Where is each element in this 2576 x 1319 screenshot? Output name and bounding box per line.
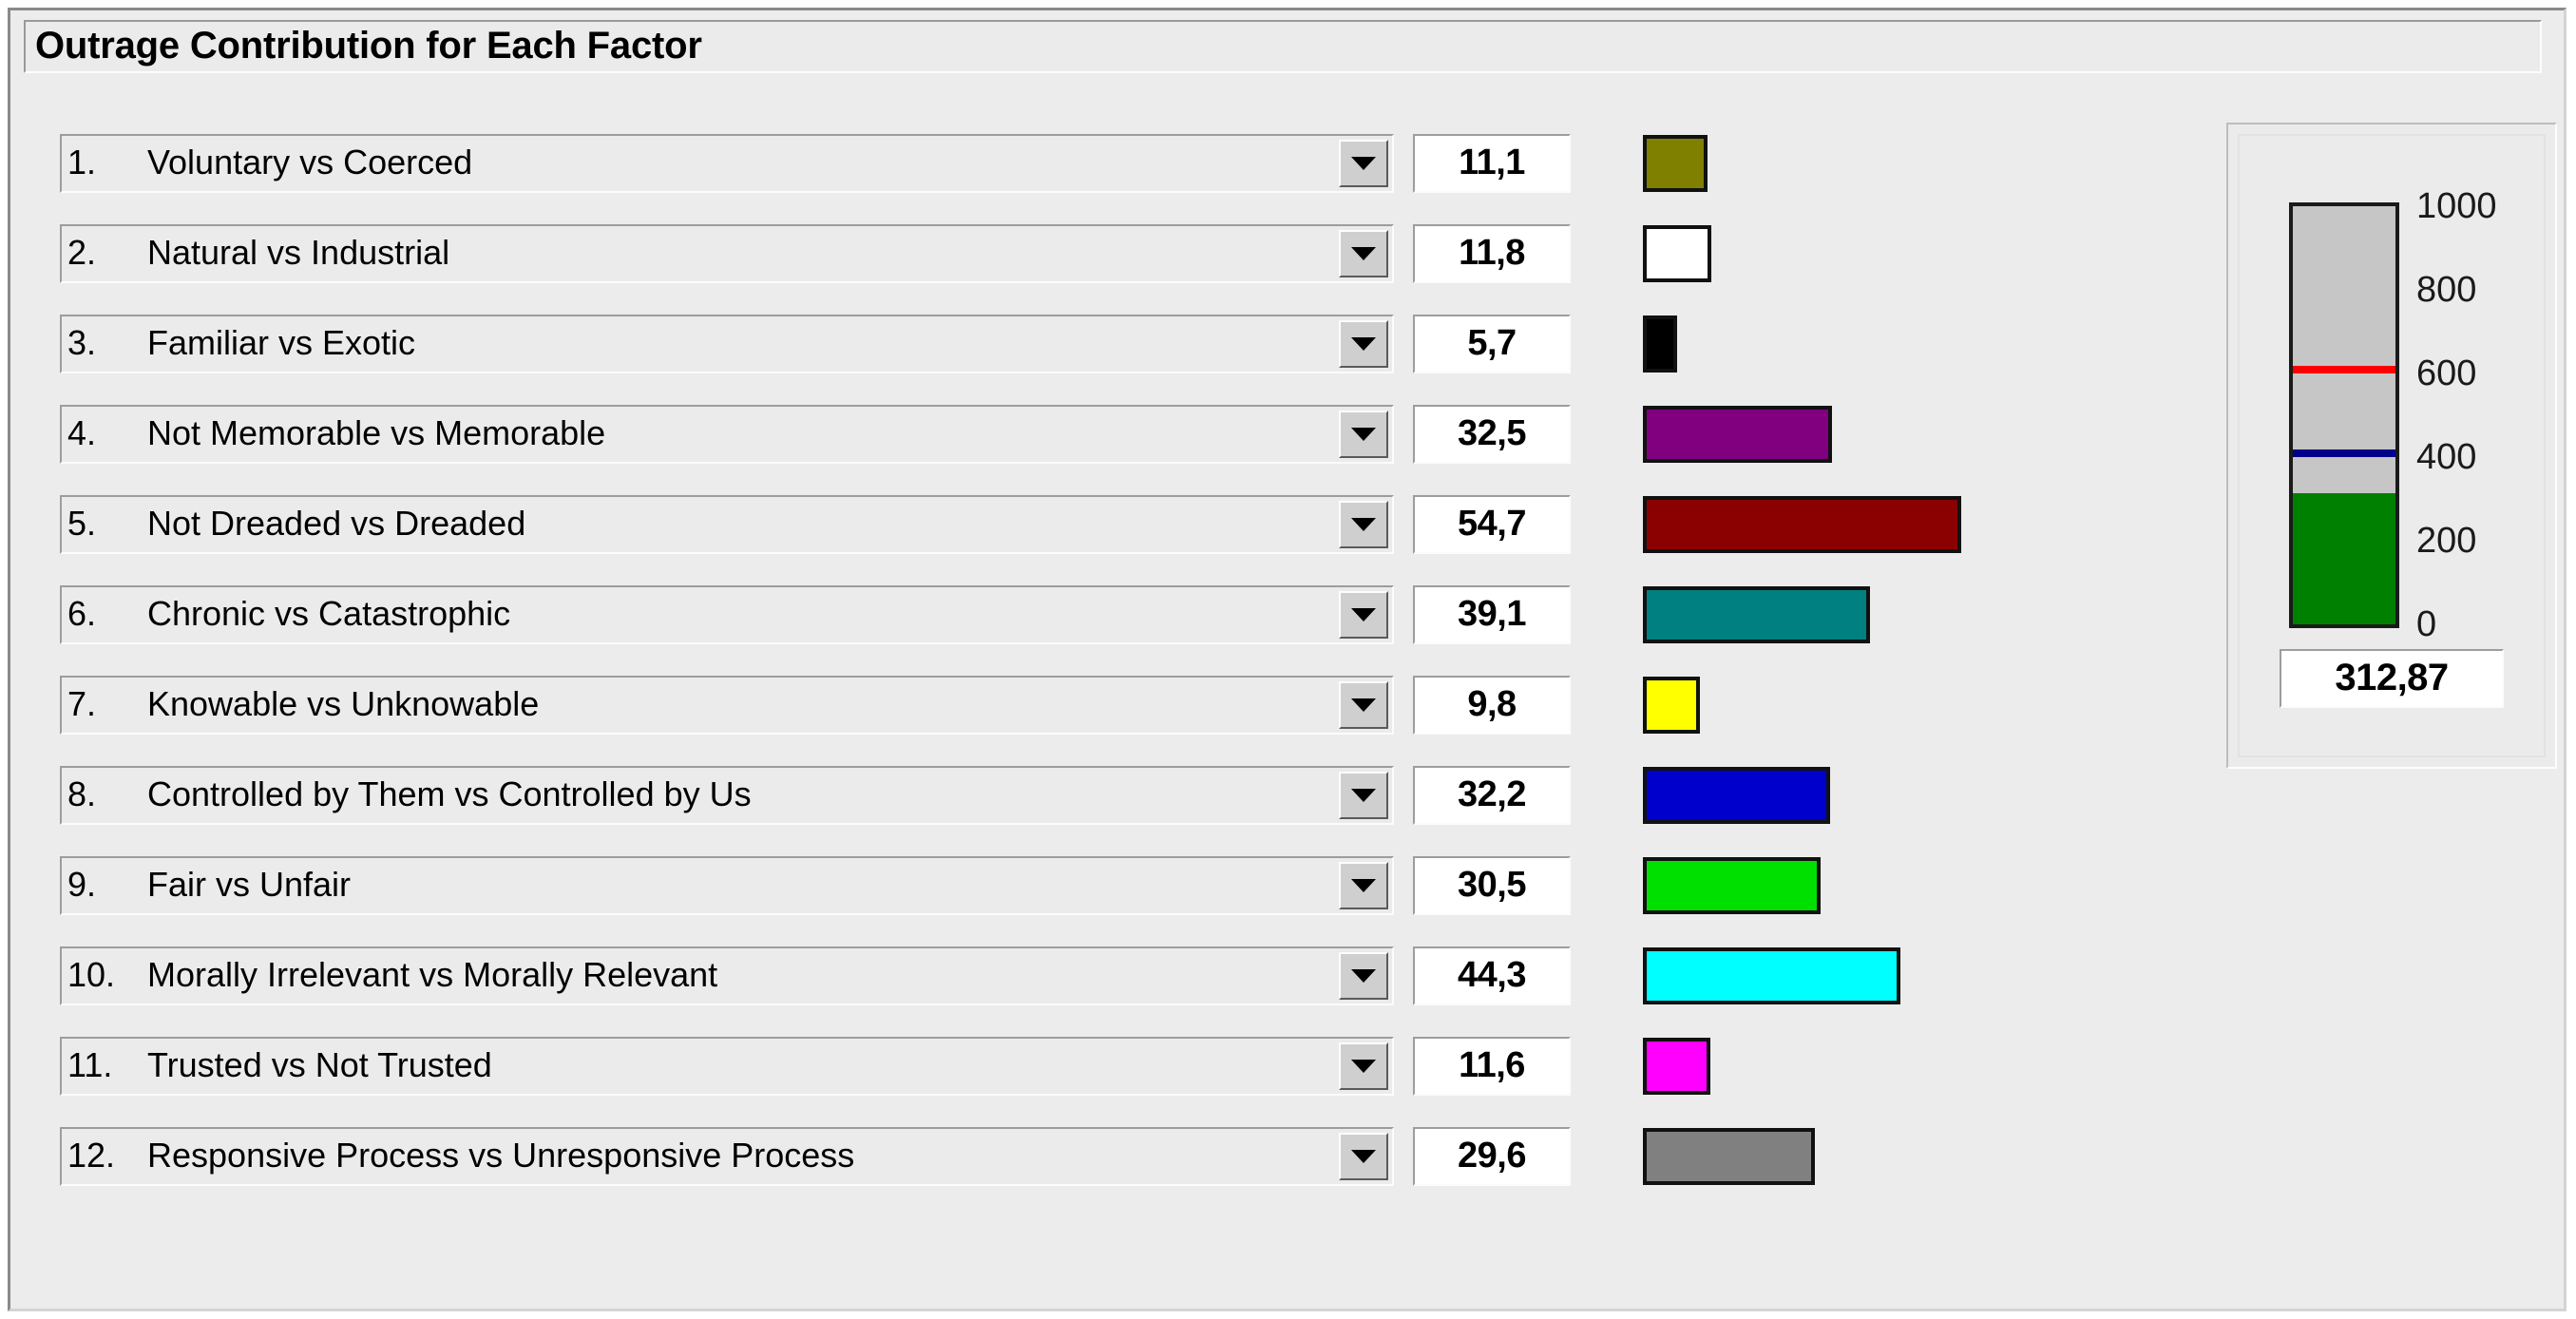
page-title: Outrage Contribution for Each Factor xyxy=(26,27,702,65)
chevron-down-glyph xyxy=(1351,1060,1376,1073)
factor-combobox-6[interactable]: 6.Chronic vs Catastrophic xyxy=(60,585,1394,644)
factor-label: Trusted vs Not Trusted xyxy=(142,1048,492,1082)
gauge-tick-label: 600 xyxy=(2416,355,2476,392)
factor-bar xyxy=(1643,677,1700,734)
gauge-fill xyxy=(2293,493,2395,624)
chevron-down-glyph xyxy=(1351,518,1376,531)
chevron-down-icon[interactable] xyxy=(1339,230,1388,277)
blue-threshold-marker xyxy=(2293,449,2395,457)
factor-number: 1. xyxy=(62,145,142,180)
factor-combobox-5[interactable]: 5.Not Dreaded vs Dreaded xyxy=(60,495,1394,554)
factor-bar xyxy=(1643,947,1900,1004)
factor-value-text: 32,2 xyxy=(1458,776,1526,812)
factor-combobox-3[interactable]: 3.Familiar vs Exotic xyxy=(60,315,1394,373)
factor-row: 3.Familiar vs Exotic5,7 xyxy=(60,307,1970,397)
factor-row: 1.Voluntary vs Coerced11,1 xyxy=(60,126,1970,217)
total-value-text: 312,87 xyxy=(2335,659,2448,697)
chevron-down-glyph xyxy=(1351,428,1376,441)
total-value-field[interactable]: 312,87 xyxy=(2280,649,2504,708)
factor-bar-track xyxy=(1643,857,2042,914)
factor-list: 1.Voluntary vs Coerced11,12.Natural vs I… xyxy=(60,126,1970,1210)
factor-number: 3. xyxy=(62,326,142,360)
gauge-tick-label: 800 xyxy=(2416,272,2476,308)
factor-label: Fair vs Unfair xyxy=(142,868,351,902)
factor-value-field[interactable]: 32,5 xyxy=(1413,405,1571,464)
factor-combobox-9[interactable]: 9.Fair vs Unfair xyxy=(60,856,1394,915)
factor-value-field[interactable]: 11,8 xyxy=(1413,224,1571,283)
factor-label: Morally Irrelevant vs Morally Relevant xyxy=(142,958,717,992)
factor-row: 5.Not Dreaded vs Dreaded54,7 xyxy=(60,487,1970,578)
factor-row: 11.Trusted vs Not Trusted11,6 xyxy=(60,1029,1970,1119)
factor-value-field[interactable]: 39,1 xyxy=(1413,585,1571,644)
total-outrage-gauge-panel: 10008006004002000 312,87 xyxy=(2226,123,2557,769)
factor-bar-track xyxy=(1643,135,2042,192)
factor-bar-track xyxy=(1643,315,2042,373)
factor-bar-track xyxy=(1643,406,2042,463)
factor-value-text: 9,8 xyxy=(1467,686,1516,722)
chevron-down-icon[interactable] xyxy=(1339,591,1388,639)
factor-combobox-12[interactable]: 12.Responsive Process vs Unresponsive Pr… xyxy=(60,1127,1394,1186)
factor-bar-track xyxy=(1643,1038,2042,1095)
chevron-down-glyph xyxy=(1351,969,1376,983)
factor-row: 8.Controlled by Them vs Controlled by Us… xyxy=(60,758,1970,849)
factor-value-field[interactable]: 5,7 xyxy=(1413,315,1571,373)
factor-value-text: 32,5 xyxy=(1458,415,1526,451)
chevron-down-glyph xyxy=(1351,879,1376,892)
factor-label: Not Memorable vs Memorable xyxy=(142,416,605,450)
chevron-down-icon[interactable] xyxy=(1339,320,1388,368)
factor-value-field[interactable]: 30,5 xyxy=(1413,856,1571,915)
factor-number: 10. xyxy=(62,958,142,992)
chevron-down-glyph xyxy=(1351,1150,1376,1163)
application-window: Outrage Contribution for Each Factor 1.V… xyxy=(8,8,2566,1311)
factor-row: 6.Chronic vs Catastrophic39,1 xyxy=(60,578,1970,668)
factor-bar xyxy=(1643,857,1821,914)
factor-value-text: 44,3 xyxy=(1458,957,1526,993)
factor-value-text: 11,8 xyxy=(1459,235,1525,271)
factor-row: 4.Not Memorable vs Memorable32,5 xyxy=(60,397,1970,487)
factor-number: 11. xyxy=(62,1048,142,1082)
factor-number: 9. xyxy=(62,868,142,902)
factor-label: Natural vs Industrial xyxy=(142,236,449,270)
gauge-tick-label: 200 xyxy=(2416,523,2476,559)
factor-number: 12. xyxy=(62,1138,142,1173)
chevron-down-glyph xyxy=(1351,337,1376,351)
factor-value-text: 11,1 xyxy=(1459,144,1525,181)
factor-value-field[interactable]: 11,1 xyxy=(1413,134,1571,193)
page-title-panel: Outrage Contribution for Each Factor xyxy=(24,20,2542,73)
factor-label: Voluntary vs Coerced xyxy=(142,145,472,180)
factor-combobox-11[interactable]: 11.Trusted vs Not Trusted xyxy=(60,1037,1394,1096)
gauge-tick-labels: 10008006004002000 xyxy=(2416,168,2559,662)
factor-label: Knowable vs Unknowable xyxy=(142,687,539,721)
factor-bar-track xyxy=(1643,586,2042,643)
factor-combobox-2[interactable]: 2.Natural vs Industrial xyxy=(60,224,1394,283)
factor-bar xyxy=(1643,225,1711,282)
factor-value-text: 30,5 xyxy=(1458,867,1526,903)
gauge-tick-label: 1000 xyxy=(2416,188,2497,224)
factor-bar-track xyxy=(1643,677,2042,734)
factor-bar xyxy=(1643,1038,1710,1095)
factor-bar xyxy=(1643,586,1870,643)
factor-bar xyxy=(1643,406,1832,463)
factor-label: Controlled by Them vs Controlled by Us xyxy=(142,777,752,812)
factor-bar-track xyxy=(1643,767,2042,824)
factor-bar xyxy=(1643,767,1830,824)
factor-combobox-4[interactable]: 4.Not Memorable vs Memorable xyxy=(60,405,1394,464)
chevron-down-icon[interactable] xyxy=(1339,1133,1388,1180)
factor-bar-track xyxy=(1643,225,2042,282)
chevron-down-glyph xyxy=(1351,789,1376,802)
factor-bar xyxy=(1643,1128,1815,1185)
gauge-inner-frame: 10008006004002000 312,87 xyxy=(2238,134,2546,757)
factor-number: 6. xyxy=(62,597,142,631)
factor-value-field[interactable]: 32,2 xyxy=(1413,766,1571,825)
chevron-down-icon[interactable] xyxy=(1339,1042,1388,1090)
factor-row: 9.Fair vs Unfair30,5 xyxy=(60,849,1970,939)
factor-combobox-1[interactable]: 1.Voluntary vs Coerced xyxy=(60,134,1394,193)
chevron-down-icon[interactable] xyxy=(1339,140,1388,187)
factor-label: Chronic vs Catastrophic xyxy=(142,597,510,631)
chevron-down-icon[interactable] xyxy=(1339,862,1388,909)
factor-bar-track xyxy=(1643,947,2042,1004)
factor-number: 2. xyxy=(62,236,142,270)
factor-value-text: 29,6 xyxy=(1458,1137,1526,1174)
factor-number: 4. xyxy=(62,416,142,450)
factor-bar xyxy=(1643,496,1961,553)
factor-bar xyxy=(1643,135,1708,192)
factor-bar xyxy=(1643,315,1677,373)
factor-row: 10.Morally Irrelevant vs Morally Relevan… xyxy=(60,939,1970,1029)
factor-row: 2.Natural vs Industrial11,8 xyxy=(60,217,1970,307)
gauge-tick-label: 0 xyxy=(2416,606,2436,642)
factor-value-text: 54,7 xyxy=(1458,506,1526,542)
gauge-track[interactable] xyxy=(2289,202,2399,628)
chevron-down-icon[interactable] xyxy=(1339,952,1388,1000)
factor-number: 7. xyxy=(62,687,142,721)
factor-number: 8. xyxy=(62,777,142,812)
gauge-tick-label: 400 xyxy=(2416,439,2476,475)
chevron-down-icon[interactable] xyxy=(1339,501,1388,548)
factor-row: 12.Responsive Process vs Unresponsive Pr… xyxy=(60,1119,1970,1210)
factor-label: Familiar vs Exotic xyxy=(142,326,415,360)
factor-number: 5. xyxy=(62,507,142,541)
chevron-down-glyph xyxy=(1351,247,1376,260)
chevron-down-glyph xyxy=(1351,698,1376,712)
factor-value-field[interactable]: 29,6 xyxy=(1413,1127,1571,1186)
chevron-down-icon[interactable] xyxy=(1339,772,1388,819)
factor-combobox-7[interactable]: 7.Knowable vs Unknowable xyxy=(60,676,1394,735)
factor-value-text: 11,6 xyxy=(1459,1047,1525,1083)
factor-bar-track xyxy=(1643,1128,2042,1185)
red-threshold-marker xyxy=(2293,366,2395,373)
chevron-down-icon[interactable] xyxy=(1339,681,1388,729)
chevron-down-icon[interactable] xyxy=(1339,411,1388,458)
factor-row: 7.Knowable vs Unknowable9,8 xyxy=(60,668,1970,758)
factor-combobox-8[interactable]: 8.Controlled by Them vs Controlled by Us xyxy=(60,766,1394,825)
factor-value-field[interactable]: 44,3 xyxy=(1413,946,1571,1005)
chevron-down-glyph xyxy=(1351,608,1376,621)
factor-value-field[interactable]: 11,6 xyxy=(1413,1037,1571,1096)
factor-combobox-10[interactable]: 10.Morally Irrelevant vs Morally Relevan… xyxy=(60,946,1394,1005)
factor-value-field[interactable]: 9,8 xyxy=(1413,676,1571,735)
factor-value-text: 5,7 xyxy=(1467,325,1516,361)
factor-bar-track xyxy=(1643,496,2042,553)
factor-label: Responsive Process vs Unresponsive Proce… xyxy=(142,1138,854,1173)
chevron-down-glyph xyxy=(1351,157,1376,170)
factor-label: Not Dreaded vs Dreaded xyxy=(142,507,525,541)
factor-value-text: 39,1 xyxy=(1458,596,1526,632)
factor-value-field[interactable]: 54,7 xyxy=(1413,495,1571,554)
